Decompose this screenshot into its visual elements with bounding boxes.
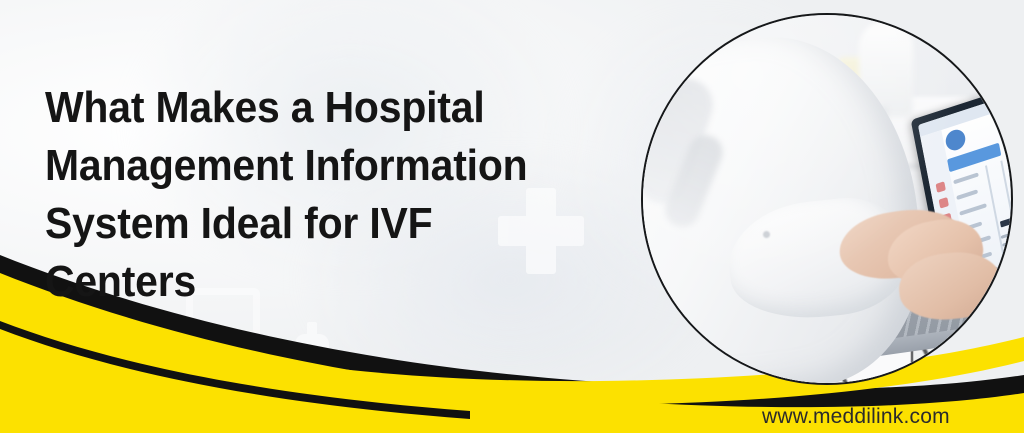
page-title: What Makes a Hospital Management Informa… [45,79,566,311]
hero-photo-inner [643,15,1011,383]
hero-photo [641,13,1013,385]
photo-coat-button [763,231,770,238]
site-url[interactable]: www.meddilink.com [762,405,950,429]
blog-banner: What Makes a Hospital Management Informa… [0,0,1024,433]
